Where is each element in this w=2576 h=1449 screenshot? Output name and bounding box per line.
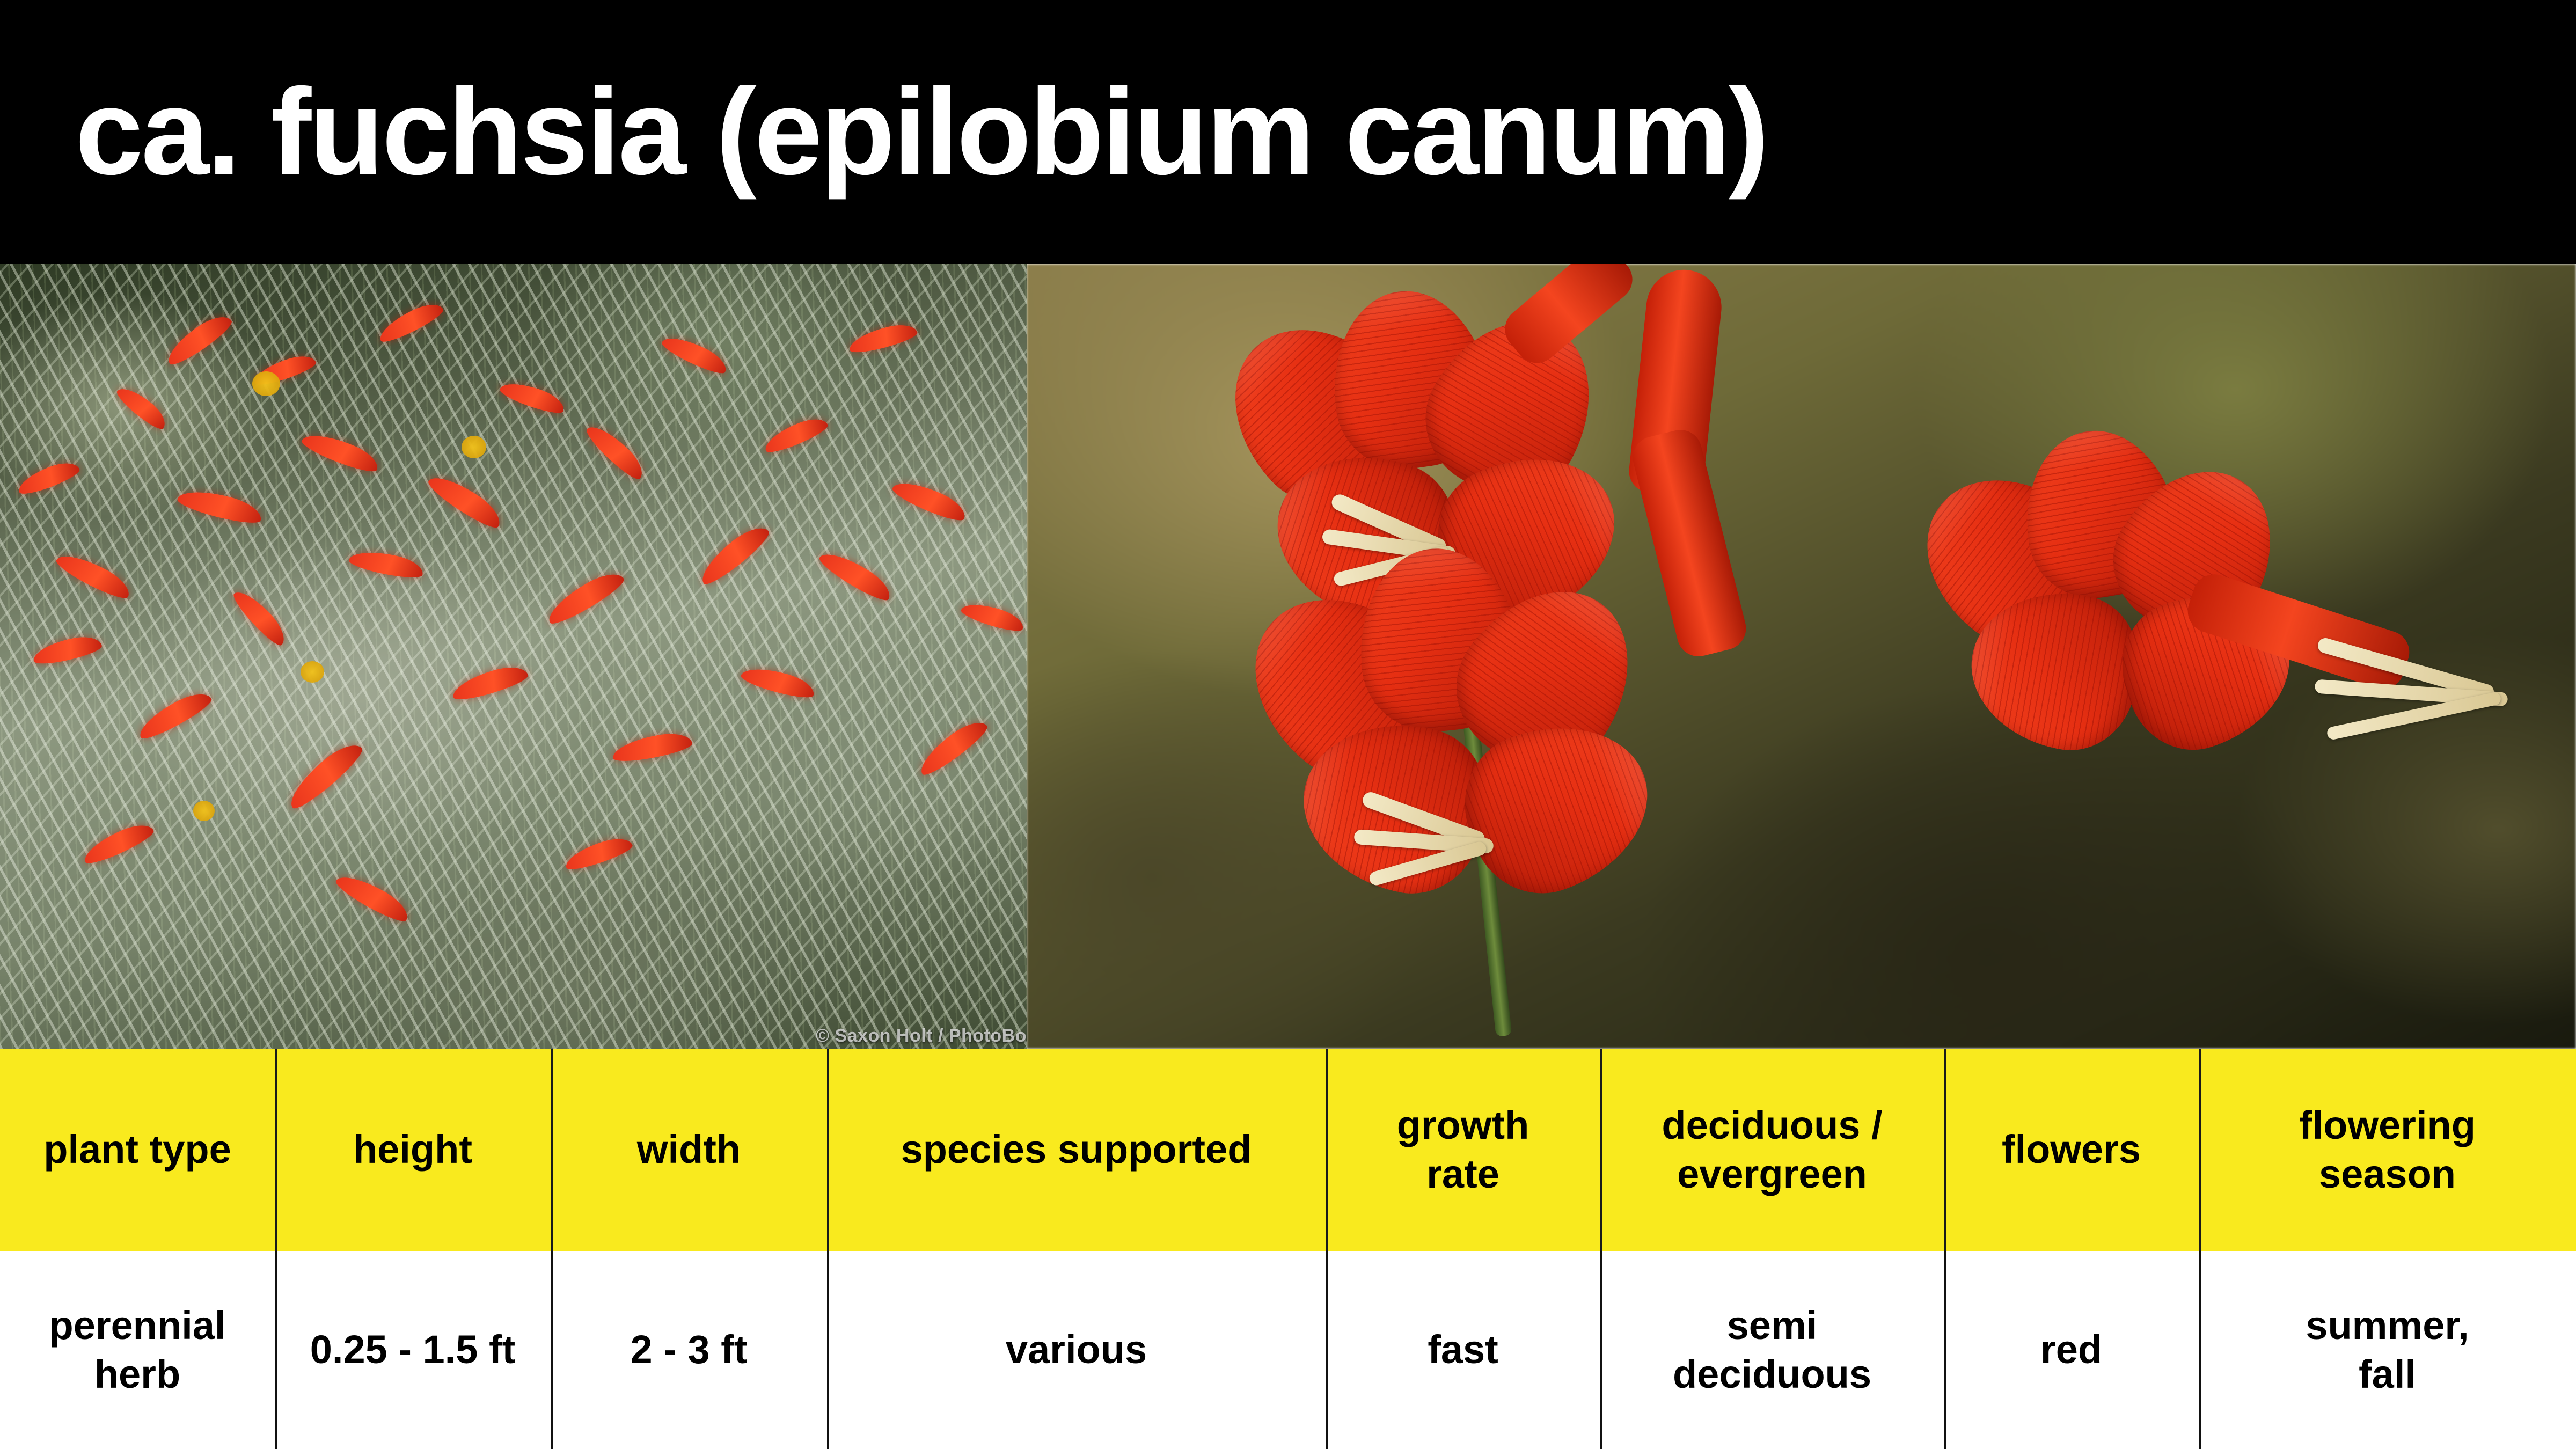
cell-width: 2 - 3 ft — [551, 1251, 827, 1449]
column-header-height: height — [275, 1049, 551, 1251]
title-band: ca. fuchsia (epilobium canum) — [0, 0, 2576, 264]
page-title: ca. fuchsia (epilobium canum) — [75, 71, 1767, 193]
cell-plant-type: perennial herb — [0, 1251, 275, 1449]
column-header-growth-rate: growth rate — [1326, 1049, 1600, 1251]
cell-flowering-season: summer, fall — [2199, 1251, 2576, 1449]
cell-growth-rate: fast — [1326, 1251, 1600, 1449]
shrub-habit-photo: © Saxon Holt / PhotoBo — [0, 264, 1027, 1049]
photo-band: © Saxon Holt / PhotoBo — [0, 264, 2576, 1049]
plant-attributes-table: plant type height width species supporte… — [0, 1049, 2576, 1449]
table-row: perennial herb 0.25 - 1.5 ft 2 - 3 ft va… — [0, 1251, 2576, 1449]
shrub-photo-flowers — [0, 264, 1027, 1049]
flower-closeup-photo — [1027, 264, 2576, 1049]
photo-credit: © Saxon Holt / PhotoBo — [816, 1026, 1027, 1046]
column-header-species-supported: species supported — [827, 1049, 1326, 1251]
cell-deciduous-evergreen: semi deciduous — [1600, 1251, 1944, 1449]
cell-species-supported: various — [827, 1251, 1326, 1449]
column-header-flowers: flowers — [1944, 1049, 2199, 1251]
cell-flowers: red — [1944, 1251, 2199, 1449]
table-header-row: plant type height width species supporte… — [0, 1049, 2576, 1251]
column-header-deciduous-evergreen: deciduous / evergreen — [1600, 1049, 1944, 1251]
column-header-plant-type: plant type — [0, 1049, 275, 1251]
plant-info-slide: ca. fuchsia (epilobium canum) — [0, 0, 2576, 1449]
column-header-width: width — [551, 1049, 827, 1251]
column-header-flowering-season: flowering season — [2199, 1049, 2576, 1251]
cell-height: 0.25 - 1.5 ft — [275, 1251, 551, 1449]
